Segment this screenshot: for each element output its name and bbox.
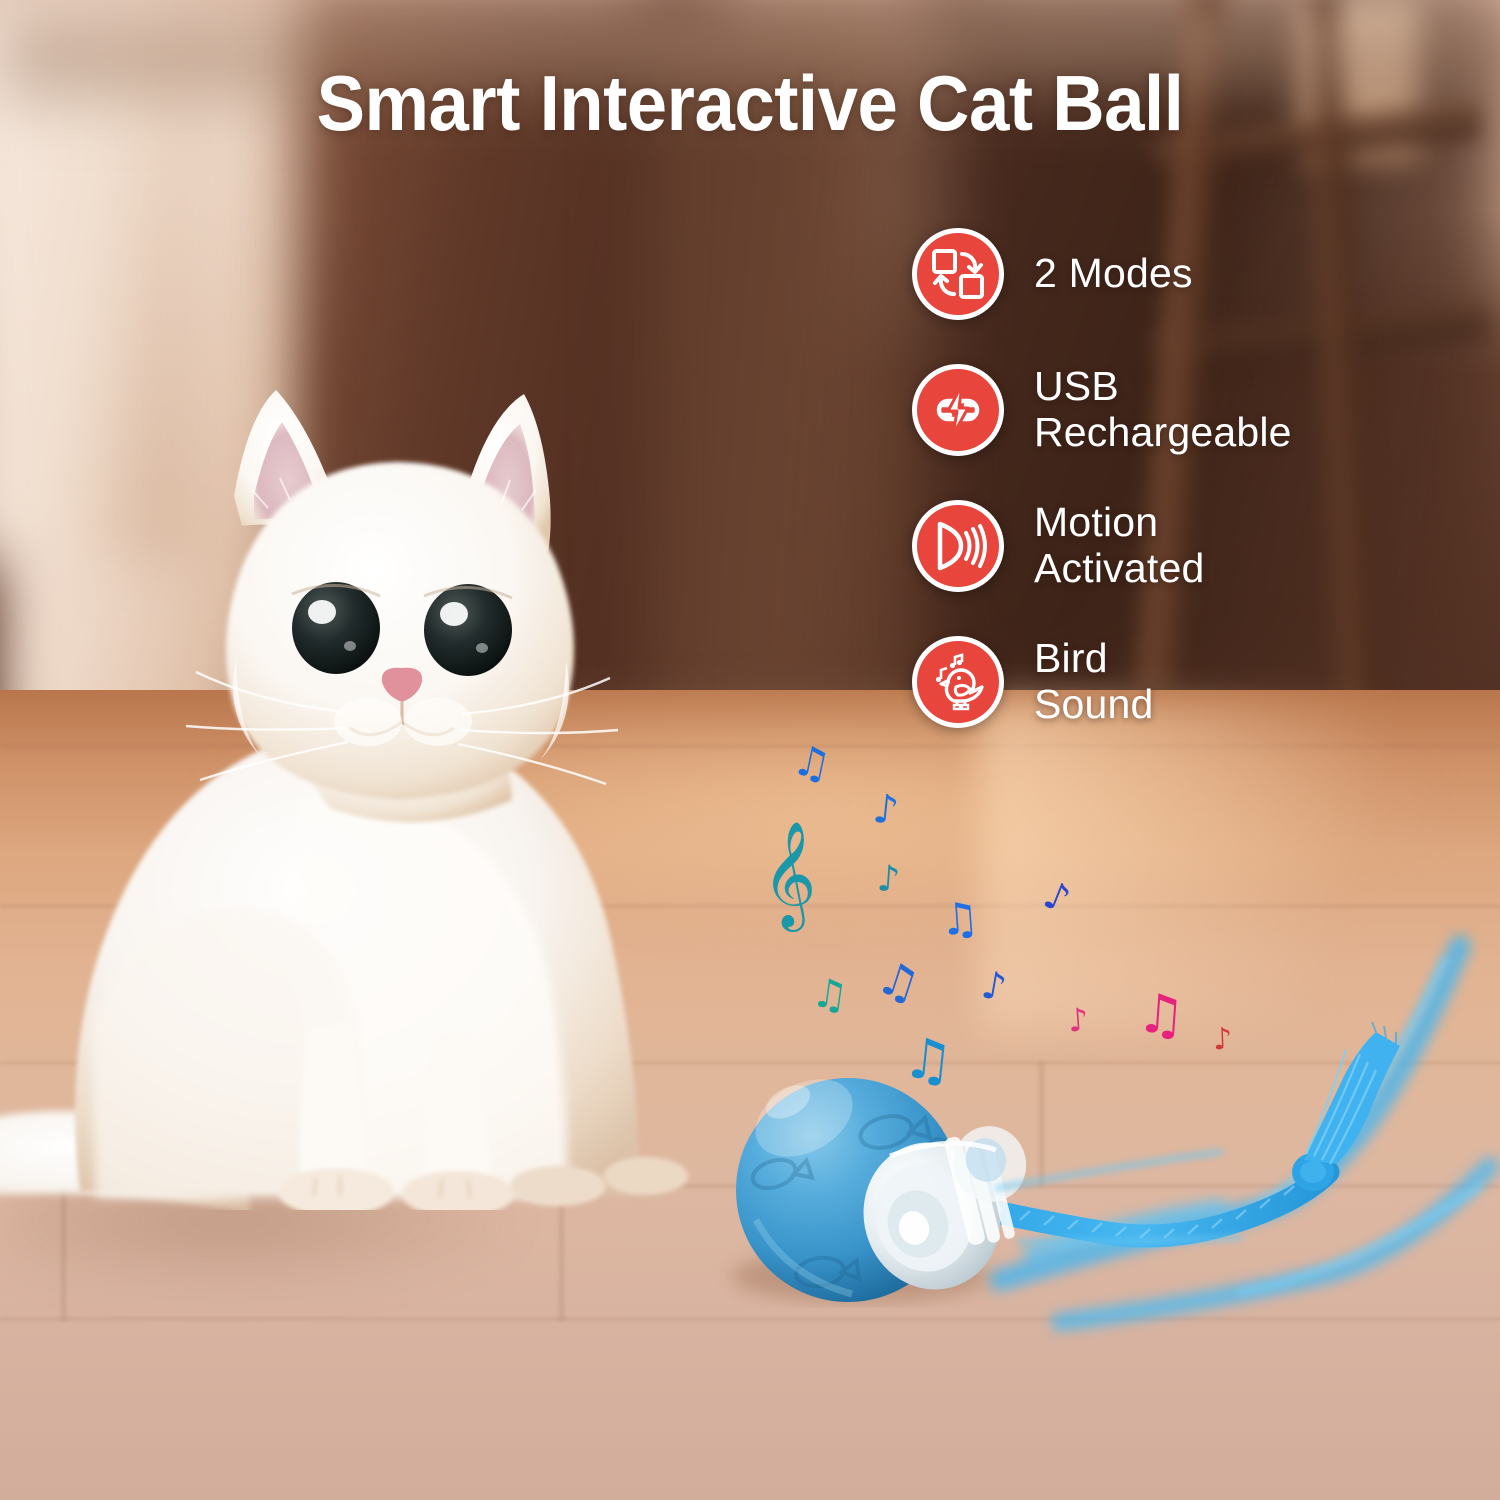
page-title: Smart Interactive Cat Ball <box>53 58 1448 149</box>
usb-charge-bolt-icon <box>912 364 1004 456</box>
feature-label: 2 Modes <box>1034 251 1193 297</box>
cat-eye-right <box>424 584 512 676</box>
feature-item-bird-sound[interactable]: Bird Sound <box>912 636 1292 728</box>
cat-eye-left <box>292 582 380 674</box>
white-cat <box>0 330 790 1200</box>
feature-list: 2 Modes USB Rechargeable <box>912 228 1292 728</box>
bird-with-notes-icon <box>912 636 1004 728</box>
feature-label: Motion Activated <box>1034 500 1204 592</box>
product-marketing-image: ♫♪𝄞♪♫♪♫♪♫♫♫♪♪ Smart Interactive Cat Ball… <box>0 0 1500 1500</box>
motion-sensor-waves-icon <box>912 500 1004 592</box>
smart-cat-ball-toy <box>700 920 1500 1360</box>
feature-item-2-modes[interactable]: 2 Modes <box>912 228 1292 320</box>
feature-label: USB Rechargeable <box>1034 364 1292 456</box>
feature-item-usb-rechargeable[interactable]: USB Rechargeable <box>912 364 1292 456</box>
cat-paw-far <box>604 1157 688 1195</box>
feature-item-motion-activated[interactable]: Motion Activated <box>912 500 1292 592</box>
cat-paw-back <box>510 1166 606 1206</box>
two-modes-swap-icon <box>912 228 1004 320</box>
feather-streaks <box>1000 946 1490 1322</box>
feature-label: Bird Sound <box>1034 636 1154 728</box>
cat-head <box>226 462 574 800</box>
